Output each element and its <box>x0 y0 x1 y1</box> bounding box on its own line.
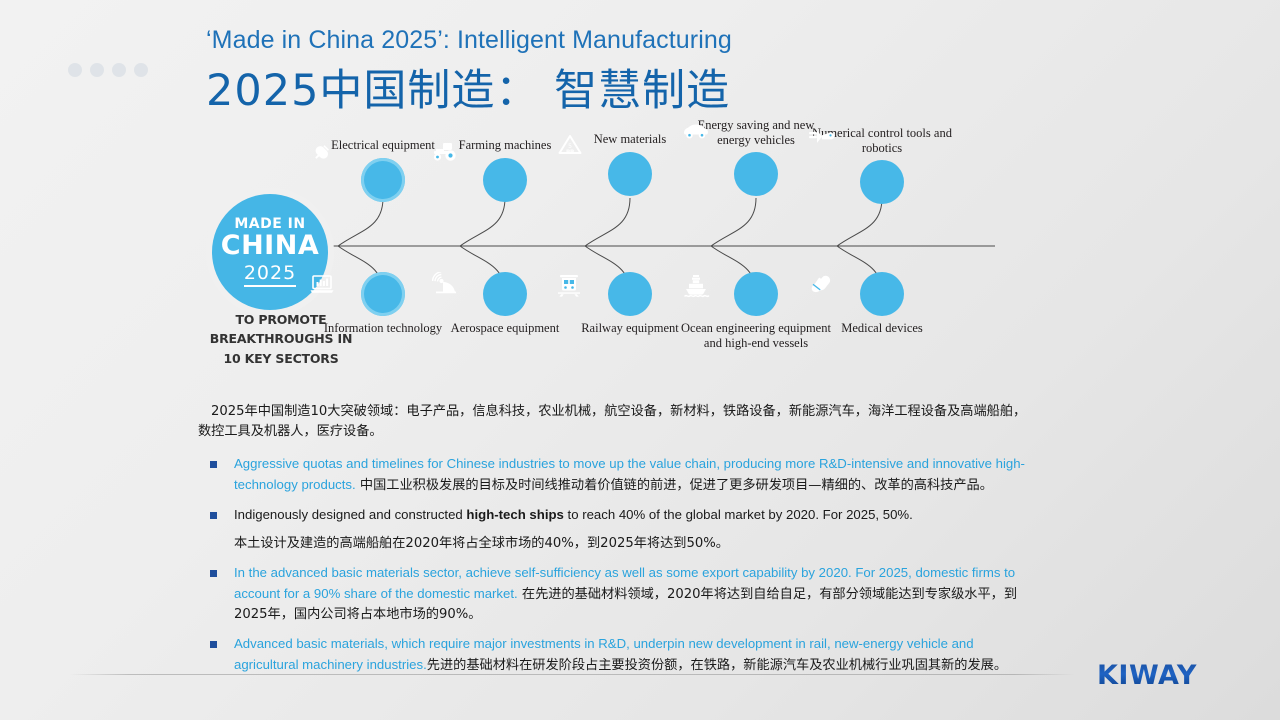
badge-line-1: MADE IN <box>234 217 305 231</box>
bullet-marker <box>210 461 217 468</box>
list-item[interactable]: Indigenously designed and constructed hi… <box>198 505 1030 554</box>
car-icon <box>734 152 778 196</box>
badge-line-3: 2025 <box>244 263 296 287</box>
robot-arm-icon <box>860 160 904 204</box>
dot-4 <box>134 63 148 77</box>
list-item[interactable]: Aggressive quotas and timelines for Chin… <box>198 454 1030 496</box>
satellite-dish-icon <box>483 272 527 316</box>
bullet-text: In the advanced basic materials sector, … <box>234 563 1030 625</box>
bullet-marker <box>210 641 217 648</box>
body-content: 2025年中国制造10大突破领域：电子产品，信息科技，农业机械，航空设备，新材料… <box>198 402 1030 685</box>
bullet-text-cn: 本土设计及建造的高端船舶在2020年将占全球市场的40%，到2025年将达到50… <box>234 534 913 554</box>
node-medical-devices[interactable]: Medical devices <box>807 272 957 336</box>
train-icon <box>608 272 652 316</box>
bullet-text: Advanced basic materials, which require … <box>234 634 1030 676</box>
list-item[interactable]: In the advanced basic materials sector, … <box>198 563 1030 625</box>
title-chinese: 2025中国制造： 智慧制造 <box>206 56 732 118</box>
dot-2 <box>90 63 104 77</box>
decorative-dots <box>68 63 148 77</box>
kiway-logo: KIWAY <box>1097 660 1197 691</box>
node-numerical-control-robotics[interactable]: Numerical control tools and robotics <box>807 126 957 204</box>
bullet-marker <box>210 512 217 519</box>
badge-line-2: CHINA <box>221 232 319 260</box>
bullet-text-cn: 中国工业积极发展的目标及时间线推动着价值链的前进，促进了更多研发项目—精细的、改… <box>360 478 993 493</box>
ship-icon <box>734 272 778 316</box>
recycle-pp-icon: 5 PP <box>608 152 652 196</box>
bullet-marker <box>210 570 217 577</box>
slide-title-block: ‘Made in China 2025’: Intelligent Manufa… <box>206 26 732 118</box>
bullet-text-en-pre: Indigenously designed and constructed <box>234 507 466 522</box>
laptop-chart-icon <box>361 272 405 316</box>
intro-paragraph: 2025年中国制造10大突破领域：电子产品，信息科技，农业机械，航空设备，新材料… <box>198 402 1030 443</box>
bullet-text: Indigenously designed and constructed hi… <box>234 505 913 554</box>
pills-icon <box>860 272 904 316</box>
node-label: Medical devices <box>807 321 957 336</box>
plug-icon <box>361 158 405 202</box>
dot-3 <box>112 63 126 77</box>
bullet-text-en-bold: high-tech ships <box>466 507 563 522</box>
list-item[interactable]: Advanced basic materials, which require … <box>198 634 1030 676</box>
tractor-icon <box>483 158 527 202</box>
bullet-text: Aggressive quotas and timelines for Chin… <box>234 454 1030 496</box>
made-in-china-infographic: MADE IN CHINA 2025 TO PROMOTE BREAKTHROU… <box>200 118 1000 383</box>
title-english: ‘Made in China 2025’: Intelligent Manufa… <box>206 26 732 55</box>
dot-1 <box>68 63 82 77</box>
bullet-text-cn: 先进的基础材料在研发阶段占主要投资份额，在铁路，新能源汽车及农业机械行业巩固其新… <box>427 658 1007 673</box>
bullet-list: Aggressive quotas and timelines for Chin… <box>198 454 1030 677</box>
svg-text:PP: PP <box>566 150 574 156</box>
bullet-text-en-post: to reach 40% of the global market by 202… <box>564 507 913 522</box>
footer-divider <box>70 674 1075 675</box>
